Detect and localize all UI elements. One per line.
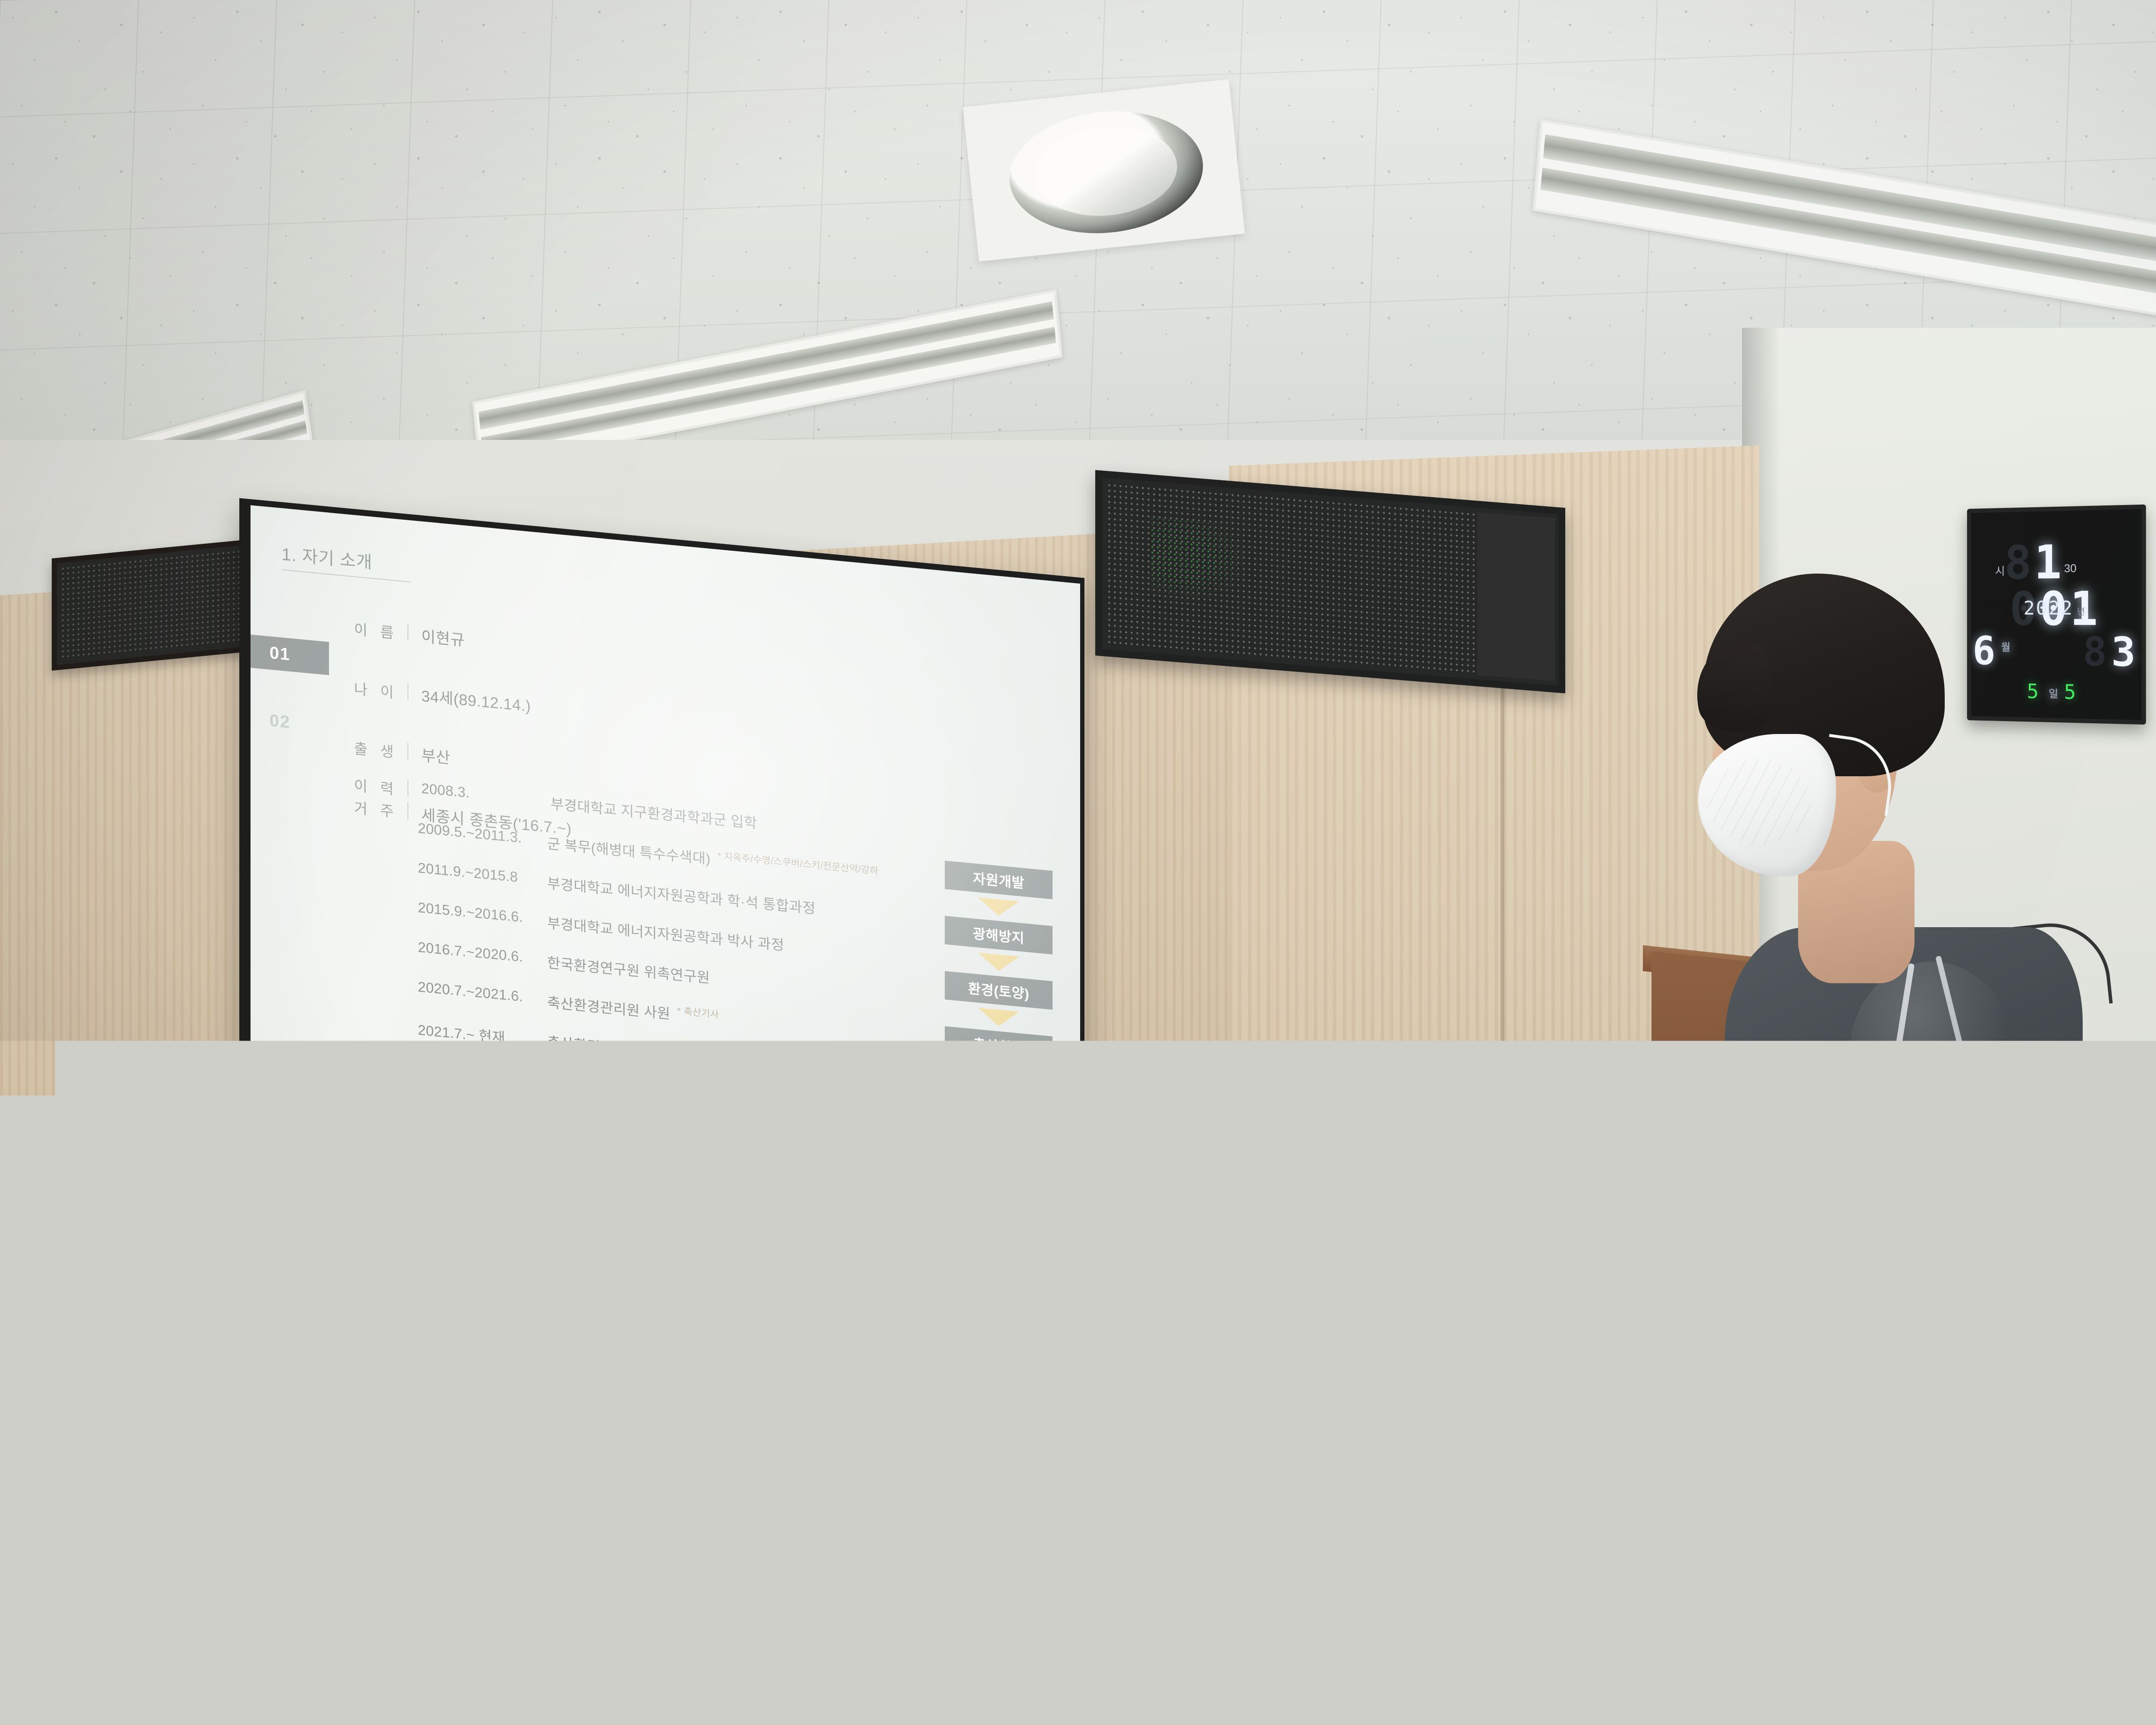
slide-section-nav: 01 02 [251,634,335,743]
nameplate-stud [1295,1628,1307,1641]
microphone-windscreen [1747,1041,1818,1120]
cup-body [1473,1199,1544,1251]
history-date: 2020.7.~2021.6. [418,979,547,1007]
slide-nav-item-02: 02 [251,702,335,743]
down-arrow-icon [978,953,1019,973]
field-value: 부산 [421,743,450,768]
slide-nav-item-01: 01 [251,634,329,675]
face-mask-pleats [1708,759,1811,845]
nameplate-stud [1203,1605,1214,1618]
projection-screen: 1. 자기 소개 01 02 이 름 이현규 나 이 [239,498,1084,1195]
career-badge-column: 자원개발 광해방지 환경(토양) 축산환경 [945,861,1053,1065]
wall-led-panel-small [52,539,254,671]
shop-vacuum-cleaner [2147,1264,2156,1574]
down-arrow-icon [978,897,1019,918]
nameplate-stud [1295,1488,1307,1501]
history-divider [407,780,408,797]
ceiling-air-diffuser-icon [963,79,1245,262]
cup-dome-lid [1469,1142,1547,1193]
career-badge: 환경(토양) [945,971,1053,1010]
screenshot-root: 1. 자기 소개 01 02 이 름 이현규 나 이 [0,0,2156,1725]
microphone-foam-texture [1751,1045,1814,1115]
history-date: 2016.7.~2020.6. [418,939,547,967]
history-date: 2009.5.~2011.3. [418,820,547,848]
speaker-edge [1125,1478,1144,1717]
led-panel-side-cover [1477,512,1555,681]
field-divider [407,743,408,760]
iced-drink-cup [1464,1117,1554,1255]
field-divider [407,683,408,700]
history-text: 군 복무(해병대 특수수색대) [547,832,711,868]
institute-logo-icon [1232,1480,1284,1552]
history-date: 2011.9.~2015.8 [418,859,547,888]
institute-nameplate: 축산환경관리원 Livestock Environmental Manageme… [1199,1459,1311,1645]
history-date: 2015.9.~2016.6. [418,899,547,928]
history-text: 부경대학교 에너지자원공학과 박사 과정 [547,911,784,954]
field-divider [407,624,408,641]
handheld-microphone[interactable] [1747,1041,1819,1120]
presenter [1583,574,2126,1725]
led-green-pixels [1150,516,1257,615]
field-label: 출 생 [354,737,405,762]
slide-page-number: 3 [1053,1158,1060,1173]
history-note: * 축산기사 [677,1003,719,1021]
nameplate-stud [1203,1464,1214,1477]
field-label: 이 름 [354,618,405,643]
field-value: 이현규 [421,624,465,651]
history-text: 축산환경관리원 사원 [547,991,670,1023]
history-date: 2021.7.~ 현재 [418,1018,547,1051]
slide-content: 1. 자기 소개 01 02 이 름 이현규 나 이 [251,505,1080,1183]
field-value: 34세(89.12.14.) [421,684,531,716]
history-text: 부경대학교 에너지자원공학과 학·석 통합과정 [547,872,815,918]
history-label: 이 력 [354,774,405,800]
down-arrow-icon [978,1008,1019,1028]
wall-led-matrix-display [1095,470,1565,693]
field-label: 나 이 [354,677,405,703]
history-text: 한국환경연구원 위촉연구원 [547,951,710,987]
career-badge: 광해방지 [945,916,1053,955]
history-note: * 지옥주/수영/스쿠버/스키/전문산악/강하 [718,848,879,877]
history-text: 축산환경관리원 주임 [547,1030,670,1063]
